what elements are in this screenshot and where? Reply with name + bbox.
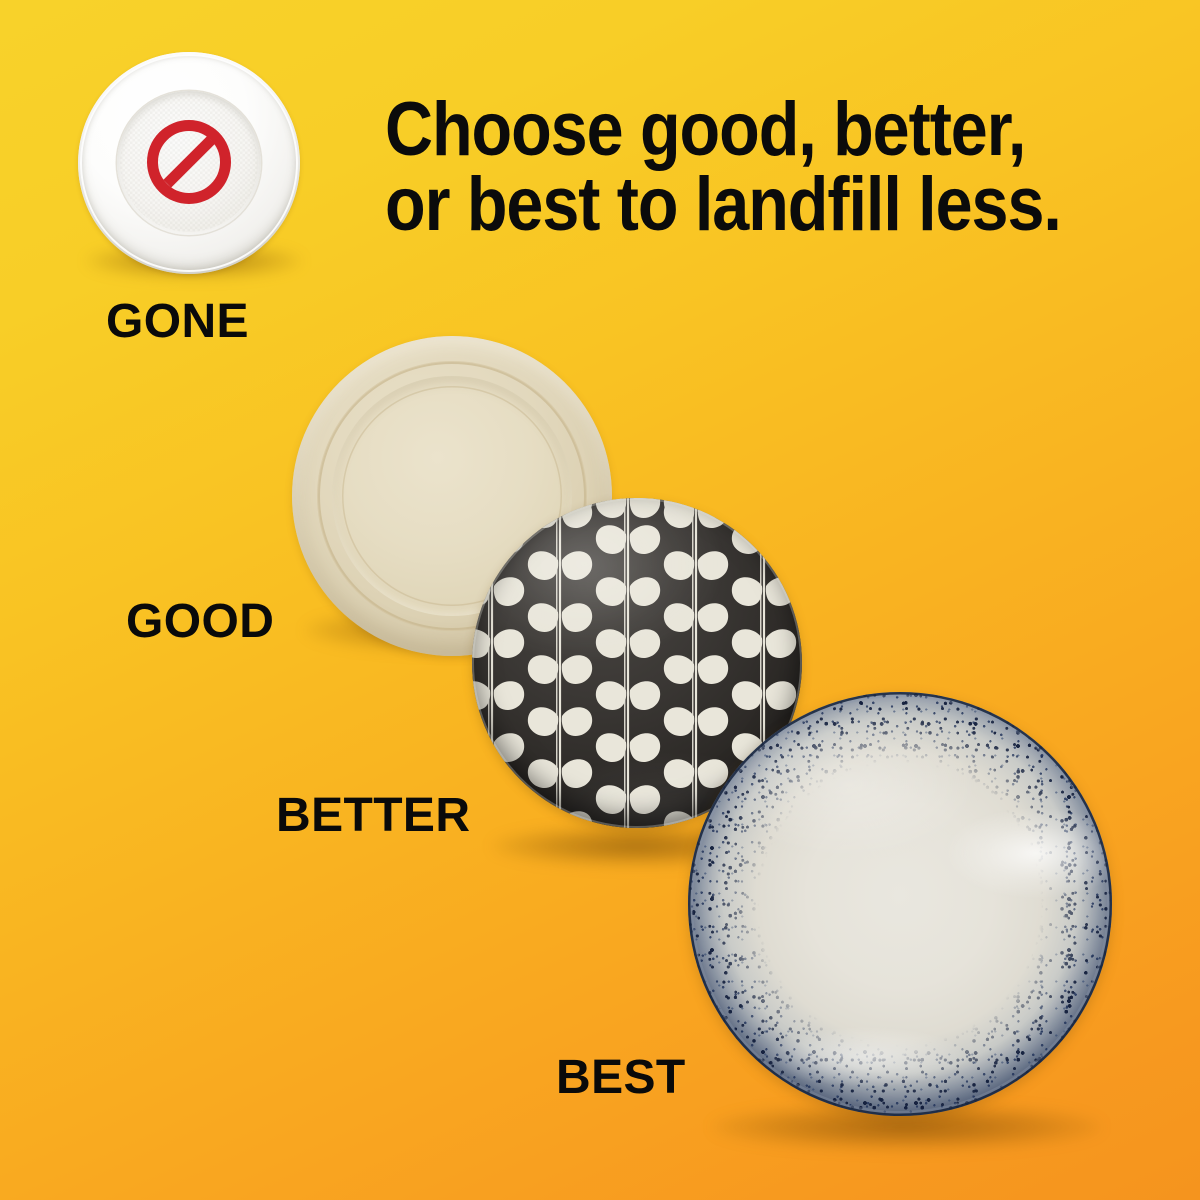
prohibition-slash [163,136,215,188]
headline-line-1: Choose good, better, [385,92,1076,167]
plastic-plate-gone [78,52,300,274]
tier-label-gone: GONE [106,298,249,346]
poster-canvas: Choose good, better, or best to landfill… [0,0,1200,1200]
stoneware-plate-speckled-rim [688,692,1112,1116]
tier-label-best: BEST [556,1054,686,1102]
stoneware-plate-best [688,692,1112,1116]
tier-label-better: BETTER [276,792,470,840]
tier-label-good: GOOD [126,598,274,646]
page-title: Choose good, better, or best to landfill… [385,92,1076,242]
headline-line-2: or best to landfill less. [385,167,1076,242]
prohibition-icon [147,120,231,204]
